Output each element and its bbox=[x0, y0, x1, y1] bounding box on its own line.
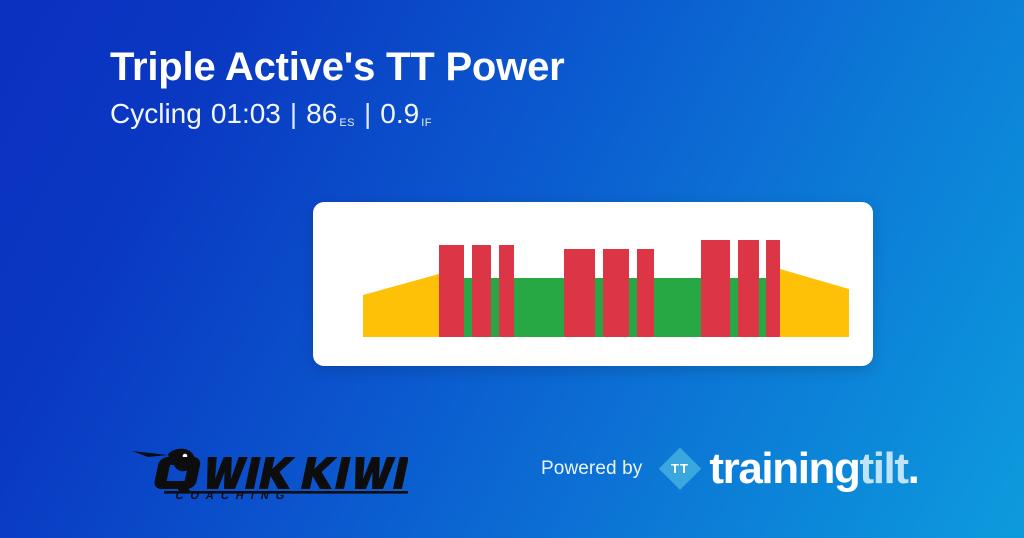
brand-name-secondary: tilt bbox=[859, 447, 907, 491]
intensity-factor-value: 0.9 bbox=[380, 98, 419, 130]
activity-duration: 01:03 bbox=[211, 98, 281, 130]
brand-name-dot: . bbox=[908, 447, 919, 491]
profile-segment-warmup-ramp bbox=[363, 227, 439, 337]
profile-segment-recovery-4 bbox=[595, 278, 603, 337]
coaching-wordmark: COACHING bbox=[174, 490, 292, 499]
header: Triple Active's TT Power Cycling 01:03 |… bbox=[110, 46, 564, 130]
footer: COACHING Powered by TT training tilt . bbox=[0, 420, 1024, 530]
profile-segment-work-5 bbox=[603, 249, 629, 337]
summary-separator-1: | bbox=[290, 98, 297, 130]
effort-score-unit: ES bbox=[339, 117, 355, 129]
qwik-kiwi-coaching-logo: COACHING bbox=[128, 437, 408, 499]
brand-name-primary: training bbox=[709, 447, 859, 491]
activity-summary: Cycling 01:03 | 86 ES | 0.9 IF bbox=[110, 98, 564, 130]
intensity-factor-unit: IF bbox=[421, 117, 432, 129]
svg-text:TT: TT bbox=[671, 461, 689, 476]
profile-segment-recovery-3 bbox=[514, 278, 564, 337]
profile-segment-recovery-1 bbox=[464, 278, 472, 337]
profile-segment-work-3 bbox=[499, 245, 514, 337]
profile-segment-work-7 bbox=[701, 240, 730, 337]
workout-profile-card bbox=[313, 202, 873, 366]
page-title: Triple Active's TT Power bbox=[110, 46, 564, 89]
workout-profile-chart bbox=[363, 227, 825, 337]
trainingtilt-wordmark: training tilt . bbox=[709, 447, 918, 491]
summary-separator-2: | bbox=[364, 98, 371, 130]
trainingtilt-diamond-icon: TT bbox=[658, 447, 702, 491]
profile-segment-work-6 bbox=[637, 249, 654, 337]
powered-by-trainingtilt[interactable]: Powered by TT training tilt . bbox=[541, 447, 918, 491]
profile-segment-recovery-6 bbox=[654, 278, 701, 337]
share-card-banner: Triple Active's TT Power Cycling 01:03 |… bbox=[0, 0, 1024, 538]
profile-segment-work-4 bbox=[564, 249, 595, 337]
profile-segment-recovery-5 bbox=[629, 278, 637, 337]
profile-segment-recovery-2 bbox=[491, 278, 499, 337]
profile-segment-work-1 bbox=[439, 245, 464, 337]
profile-segment-work-2 bbox=[472, 245, 491, 337]
powered-by-label: Powered by bbox=[541, 458, 642, 480]
profile-segment-recovery-8 bbox=[759, 278, 766, 337]
profile-segment-recovery-7 bbox=[730, 278, 738, 337]
profile-segment-work-9 bbox=[766, 240, 780, 337]
activity-type: Cycling bbox=[110, 98, 202, 130]
effort-score-value: 86 bbox=[306, 98, 337, 130]
profile-segment-cooldown-ramp bbox=[780, 227, 849, 337]
profile-segment-work-8 bbox=[738, 240, 759, 337]
